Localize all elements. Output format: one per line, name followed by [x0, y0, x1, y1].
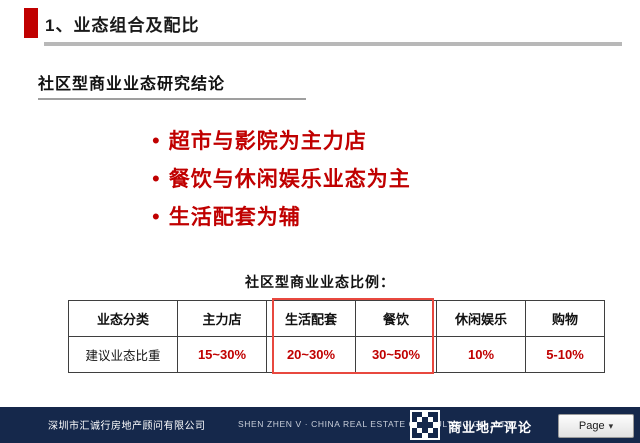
chevron-down-icon: ▾ [609, 421, 614, 432]
list-item: • 超市与影院为主力店 [152, 128, 572, 156]
table-cell-value: 30~50% [356, 337, 437, 373]
table-header-cell: 生活配套 [267, 301, 356, 337]
slide-header: 1、业态组合及配比 [0, 0, 640, 48]
bullet-dot-icon: • [152, 166, 160, 192]
header-accent-bar [24, 8, 38, 38]
bullet-text: 餐饮与休闲娱乐业态为主 [169, 166, 411, 194]
section-title-divider [38, 98, 306, 100]
bullet-text: 生活配套为辅 [169, 204, 301, 232]
table-row: 建议业态比重 15~30% 20~30% 30~50% 10% 5-10% [69, 337, 605, 373]
table-caption: 社区型商业业态比例： [0, 272, 640, 292]
slide-footer: 深圳市汇诚行房地产顾问有限公司 SHEN ZHEN V · CHINA REAL… [0, 407, 640, 443]
table-header-cell: 业态分类 [69, 301, 178, 337]
table-cell-value: 10% [437, 337, 526, 373]
bullet-dot-icon: • [152, 204, 160, 230]
footer-company-cn: 深圳市汇诚行房地产顾问有限公司 [48, 417, 206, 432]
table-row-label: 建议业态比重 [69, 337, 178, 373]
bullet-dot-icon: • [152, 128, 160, 154]
table-header-cell: 餐饮 [356, 301, 437, 337]
table-cell-value: 15~30% [178, 337, 267, 373]
qr-code-icon [410, 410, 440, 440]
table-cell-value: 20~30% [267, 337, 356, 373]
page-button[interactable]: Page ▾ [558, 414, 634, 438]
slide-canvas: 1、业态组合及配比 社区型商业业态研究结论 • 超市与影院为主力店 • 餐饮与休… [0, 0, 640, 443]
footer-brand: 商业地产评论 [448, 417, 532, 436]
header-divider [44, 42, 622, 46]
table-header-cell: 主力店 [178, 301, 267, 337]
table-header-cell: 休闲娱乐 [437, 301, 526, 337]
section-title: 社区型商业业态研究结论 [38, 70, 225, 94]
table-cell-value: 5-10% [526, 337, 605, 373]
table-header-cell: 购物 [526, 301, 605, 337]
list-item: • 餐饮与休闲娱乐业态为主 [152, 166, 572, 194]
conclusion-bullet-list: • 超市与影院为主力店 • 餐饮与休闲娱乐业态为主 • 生活配套为辅 [152, 128, 572, 242]
page-title: 1、业态组合及配比 [45, 11, 199, 36]
bullet-text: 超市与影院为主力店 [169, 128, 367, 156]
business-ratio-table: 业态分类 主力店 生活配套 餐饮 休闲娱乐 购物 建议业态比重 15~30% 2… [68, 300, 574, 373]
list-item: • 生活配套为辅 [152, 204, 572, 232]
table-row: 业态分类 主力店 生活配套 餐饮 休闲娱乐 购物 [69, 301, 605, 337]
page-button-label: Page [579, 420, 605, 432]
